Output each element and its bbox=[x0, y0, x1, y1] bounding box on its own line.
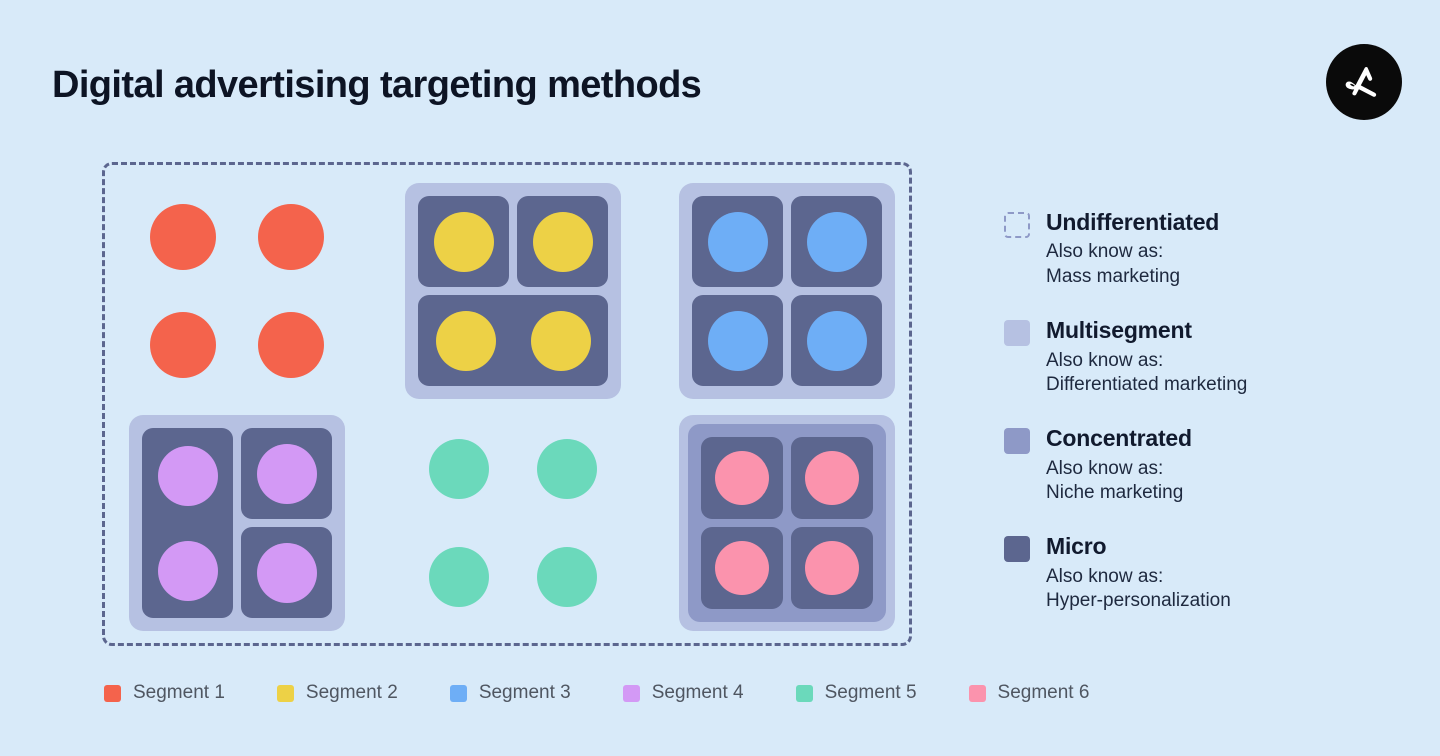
method-legend: Undifferentiated Also know as: Mass mark… bbox=[1004, 208, 1404, 613]
micro-box bbox=[692, 295, 783, 386]
segment-4-dot bbox=[257, 444, 317, 504]
legend-entry-micro: Micro Also know as: Hyper-personalizatio… bbox=[1004, 532, 1404, 613]
segment-legend-label: Segment 3 bbox=[479, 682, 571, 704]
segment-3-swatch-icon bbox=[450, 685, 467, 702]
legend-alias: Mass marketing bbox=[1046, 265, 1219, 289]
segment-2-swatch-icon bbox=[277, 685, 294, 702]
legend-alias-label: Also know as: bbox=[1046, 565, 1231, 589]
segment-6-swatch-icon bbox=[969, 685, 986, 702]
segment-5-dot-grid bbox=[405, 415, 621, 631]
segment-6-dot bbox=[805, 541, 859, 595]
micro-box bbox=[791, 437, 873, 519]
micro-box-tall bbox=[142, 428, 233, 618]
segment-3-dot bbox=[708, 212, 768, 272]
legend-entry-concentrated: Concentrated Also know as: Niche marketi… bbox=[1004, 424, 1404, 505]
segment-1-dot bbox=[258, 204, 324, 270]
segment-2-micro-grid bbox=[418, 196, 608, 386]
segment-legend-label: Segment 6 bbox=[998, 682, 1090, 704]
segment-legend-item: Segment 6 bbox=[969, 682, 1090, 704]
micro-box bbox=[701, 437, 783, 519]
legend-title: Undifferentiated bbox=[1046, 208, 1219, 237]
legend-entry-undifferentiated: Undifferentiated Also know as: Mass mark… bbox=[1004, 208, 1404, 289]
segment-4-dot bbox=[158, 541, 218, 601]
segment-5-swatch-icon bbox=[796, 685, 813, 702]
segment-6-dot bbox=[715, 451, 769, 505]
segment-2-dot bbox=[533, 212, 593, 272]
segment-5-dot bbox=[537, 439, 597, 499]
micro-box bbox=[791, 196, 882, 287]
group-segment-2-multisegment bbox=[405, 183, 621, 399]
micro-box bbox=[791, 295, 882, 386]
group-segment-5-undifferentiated bbox=[405, 415, 621, 631]
legend-entry-multisegment: Multisegment Also know as: Differentiate… bbox=[1004, 316, 1404, 397]
segment-3-dot bbox=[708, 311, 768, 371]
group-segment-6-concentrated bbox=[679, 415, 895, 631]
segment-5-dot bbox=[537, 547, 597, 607]
segment-6-micro-grid bbox=[701, 437, 873, 609]
segment-2-dot bbox=[531, 311, 591, 371]
legend-alias: Hyper-personalization bbox=[1046, 589, 1231, 613]
segment-1-swatch-icon bbox=[104, 685, 121, 702]
micro-box bbox=[791, 527, 873, 609]
segment-4-dot bbox=[158, 446, 218, 506]
segment-legend-label: Segment 2 bbox=[306, 682, 398, 704]
segment-1-dot bbox=[150, 312, 216, 378]
segment-legend: Segment 1 Segment 2 Segment 3 Segment 4 … bbox=[104, 682, 1141, 704]
legend-alias: Differentiated marketing bbox=[1046, 373, 1247, 397]
brand-a-logo-icon bbox=[1326, 44, 1402, 120]
legend-title: Concentrated bbox=[1046, 424, 1192, 453]
segment-1-dot-grid bbox=[129, 183, 345, 399]
undifferentiated-universe-boundary bbox=[102, 162, 912, 646]
undifferentiated-swatch-icon bbox=[1004, 212, 1030, 238]
micro-box bbox=[692, 196, 783, 287]
segment-1-dot bbox=[258, 312, 324, 378]
segment-2-dot bbox=[434, 212, 494, 272]
legend-alias-label: Also know as: bbox=[1046, 349, 1247, 373]
micro-box bbox=[241, 428, 332, 519]
page-title: Digital advertising targeting methods bbox=[52, 64, 701, 107]
legend-alias: Niche marketing bbox=[1046, 481, 1192, 505]
segment-legend-label: Segment 1 bbox=[133, 682, 225, 704]
micro-box bbox=[418, 196, 509, 287]
legend-alias-label: Also know as: bbox=[1046, 457, 1192, 481]
group-segment-3-multisegment bbox=[679, 183, 895, 399]
micro-box bbox=[701, 527, 783, 609]
segment-6-dot bbox=[805, 451, 859, 505]
micro-box-wide bbox=[418, 295, 608, 386]
group-segment-4-multisegment bbox=[129, 415, 345, 631]
segment-legend-label: Segment 4 bbox=[652, 682, 744, 704]
concentrated-swatch-icon bbox=[1004, 428, 1030, 454]
group-segment-1-undifferentiated bbox=[129, 183, 345, 399]
segment-legend-item: Segment 2 bbox=[277, 682, 398, 704]
segment-4-swatch-icon bbox=[623, 685, 640, 702]
segment-4-micro-grid bbox=[142, 428, 332, 618]
segment-3-dot bbox=[807, 311, 867, 371]
segment-5-dot bbox=[429, 439, 489, 499]
segment-legend-item: Segment 4 bbox=[623, 682, 744, 704]
segment-2-dot bbox=[436, 311, 496, 371]
segment-1-dot bbox=[150, 204, 216, 270]
segment-3-dot bbox=[807, 212, 867, 272]
legend-alias-label: Also know as: bbox=[1046, 240, 1219, 264]
segment-4-dot bbox=[257, 543, 317, 603]
micro-box bbox=[517, 196, 608, 287]
segment-legend-item: Segment 5 bbox=[796, 682, 917, 704]
micro-box bbox=[241, 527, 332, 618]
legend-title: Micro bbox=[1046, 532, 1231, 561]
segment-legend-label: Segment 5 bbox=[825, 682, 917, 704]
legend-title: Multisegment bbox=[1046, 316, 1247, 345]
segment-legend-item: Segment 3 bbox=[450, 682, 571, 704]
multisegment-swatch-icon bbox=[1004, 320, 1030, 346]
segment-3-micro-grid bbox=[692, 196, 882, 386]
segment-5-dot bbox=[429, 547, 489, 607]
micro-swatch-icon bbox=[1004, 536, 1030, 562]
segment-6-dot bbox=[715, 541, 769, 595]
segment-legend-item: Segment 1 bbox=[104, 682, 225, 704]
